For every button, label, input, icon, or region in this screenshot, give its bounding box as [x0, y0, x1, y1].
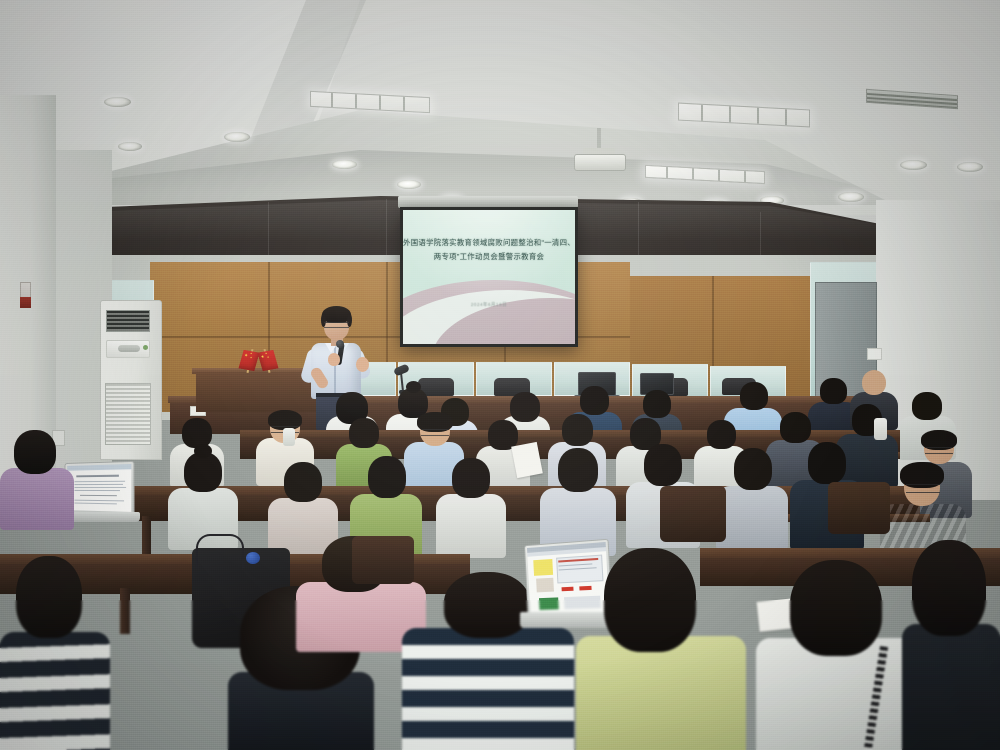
audience-member: [436, 458, 506, 554]
eyeglasses-icon: [421, 429, 449, 436]
person-body: [716, 486, 788, 550]
person-hair: [912, 540, 986, 636]
attendee-laptop[interactable]: [65, 461, 135, 515]
slide-date: 2024年6月18日: [403, 302, 575, 308]
accent-block-red: [562, 587, 574, 592]
person-hair: [643, 390, 671, 418]
bottle-cap-blue: [246, 552, 260, 564]
slide-title-line-2: 两专项”工作动员会暨警示教育会: [403, 250, 575, 264]
person-hair: [452, 458, 490, 498]
laptop-screen: [67, 464, 131, 512]
laptop-titlebar: [67, 464, 131, 471]
projection-screen-frame: 外国语学院落实教育领域腐败问题整治和“一清四、 两专项”工作动员会暨警示教育会 …: [400, 207, 578, 347]
person-hair: [740, 382, 768, 410]
person-hair: [734, 448, 772, 490]
wall-notice-sign-red-label: [20, 297, 31, 308]
person-hair: [349, 418, 379, 448]
person-hair: [912, 392, 942, 420]
desk-leg: [142, 516, 151, 556]
desk-leg: [120, 588, 130, 634]
slide-title-line-1: 外国语学院落实教育领域腐败问题整治和“一清四、: [403, 236, 575, 250]
light-switch-plate[interactable]: [867, 348, 882, 360]
water-bottle[interactable]: [283, 428, 295, 446]
ceiling-downlight: [104, 97, 131, 107]
person-hair: [707, 420, 736, 449]
person-hair: [510, 392, 540, 422]
person-hair: [284, 462, 322, 502]
audience-member: [902, 540, 1000, 750]
ceiling-downlight: [224, 132, 250, 142]
highlight-block-yellow: [533, 559, 553, 576]
person-hair: [14, 430, 56, 474]
podium: [196, 372, 316, 412]
audience-member: [0, 430, 74, 526]
person-hair: [644, 444, 682, 486]
accent-block-green: [539, 597, 559, 610]
person-hair: [368, 456, 406, 498]
person-body: [0, 632, 110, 750]
lecture-hall-photo: 外国语学院落实教育领域腐败问题整治和“一清四、 两专项”工作动员会暨警示教育会 …: [0, 0, 1000, 750]
person-hair-bun: [406, 381, 421, 393]
eyeglasses-icon: [925, 447, 953, 454]
person-body: [576, 636, 746, 750]
audience-member: [540, 448, 616, 552]
person-body: [402, 628, 574, 750]
air-conditioner-power-led: [143, 345, 148, 350]
person-hair-bun: [194, 444, 212, 458]
person-hair: [562, 414, 593, 446]
air-conditioner-bottom-grille: [105, 383, 151, 445]
person-hair: [808, 442, 846, 484]
projection-screen-surface: 外国语学院落实教育领域腐败问题整治和“一清四、 两专项”工作动员会暨警示教育会 …: [403, 210, 575, 344]
projector-mount: [597, 128, 601, 150]
audience-member: [168, 452, 238, 546]
eyeglasses-icon: [324, 322, 349, 328]
seat-back: [660, 486, 726, 542]
person-hair: [16, 556, 82, 638]
presenter-hand: [328, 353, 340, 366]
ceiling-downlight: [118, 142, 142, 151]
projector-icon: [574, 154, 626, 171]
person-body: [0, 468, 74, 530]
audience-member: [0, 556, 110, 750]
person-body: [436, 494, 506, 558]
person-hair: [780, 412, 811, 443]
handbag-strap: [196, 534, 244, 568]
microphone-head: [336, 340, 344, 348]
air-conditioner-badge: [118, 345, 140, 352]
ceiling-downlight: [397, 180, 421, 189]
ceiling-downlight: [957, 162, 983, 172]
person-hair: [182, 418, 212, 448]
seat-back: [828, 482, 890, 534]
seat-back: [352, 536, 414, 584]
audience-member: [716, 448, 788, 546]
person-hair: [604, 548, 696, 652]
ceiling-downlight: [838, 192, 864, 202]
presenter-hand-gesture: [356, 357, 369, 372]
slide-title: 外国语学院落实教育领域腐败问题整治和“一清四、 两专项”工作动员会暨警示教育会: [403, 236, 575, 264]
person-hair: [184, 452, 222, 492]
air-conditioner-top-grille: [106, 310, 150, 332]
water-bottle[interactable]: [874, 418, 887, 440]
person-hair: [580, 386, 609, 415]
person-body: [902, 624, 1000, 750]
audience-member: [576, 548, 746, 750]
person-head: [862, 370, 886, 395]
content-block: [536, 578, 554, 593]
person-hair: [790, 560, 882, 656]
ceiling-downlight: [332, 160, 357, 169]
person-hair: [820, 378, 847, 404]
person-hair: [444, 572, 530, 638]
ceiling-downlight: [900, 160, 927, 170]
eyeglasses-icon: [906, 484, 940, 493]
person-hair: [558, 448, 598, 492]
